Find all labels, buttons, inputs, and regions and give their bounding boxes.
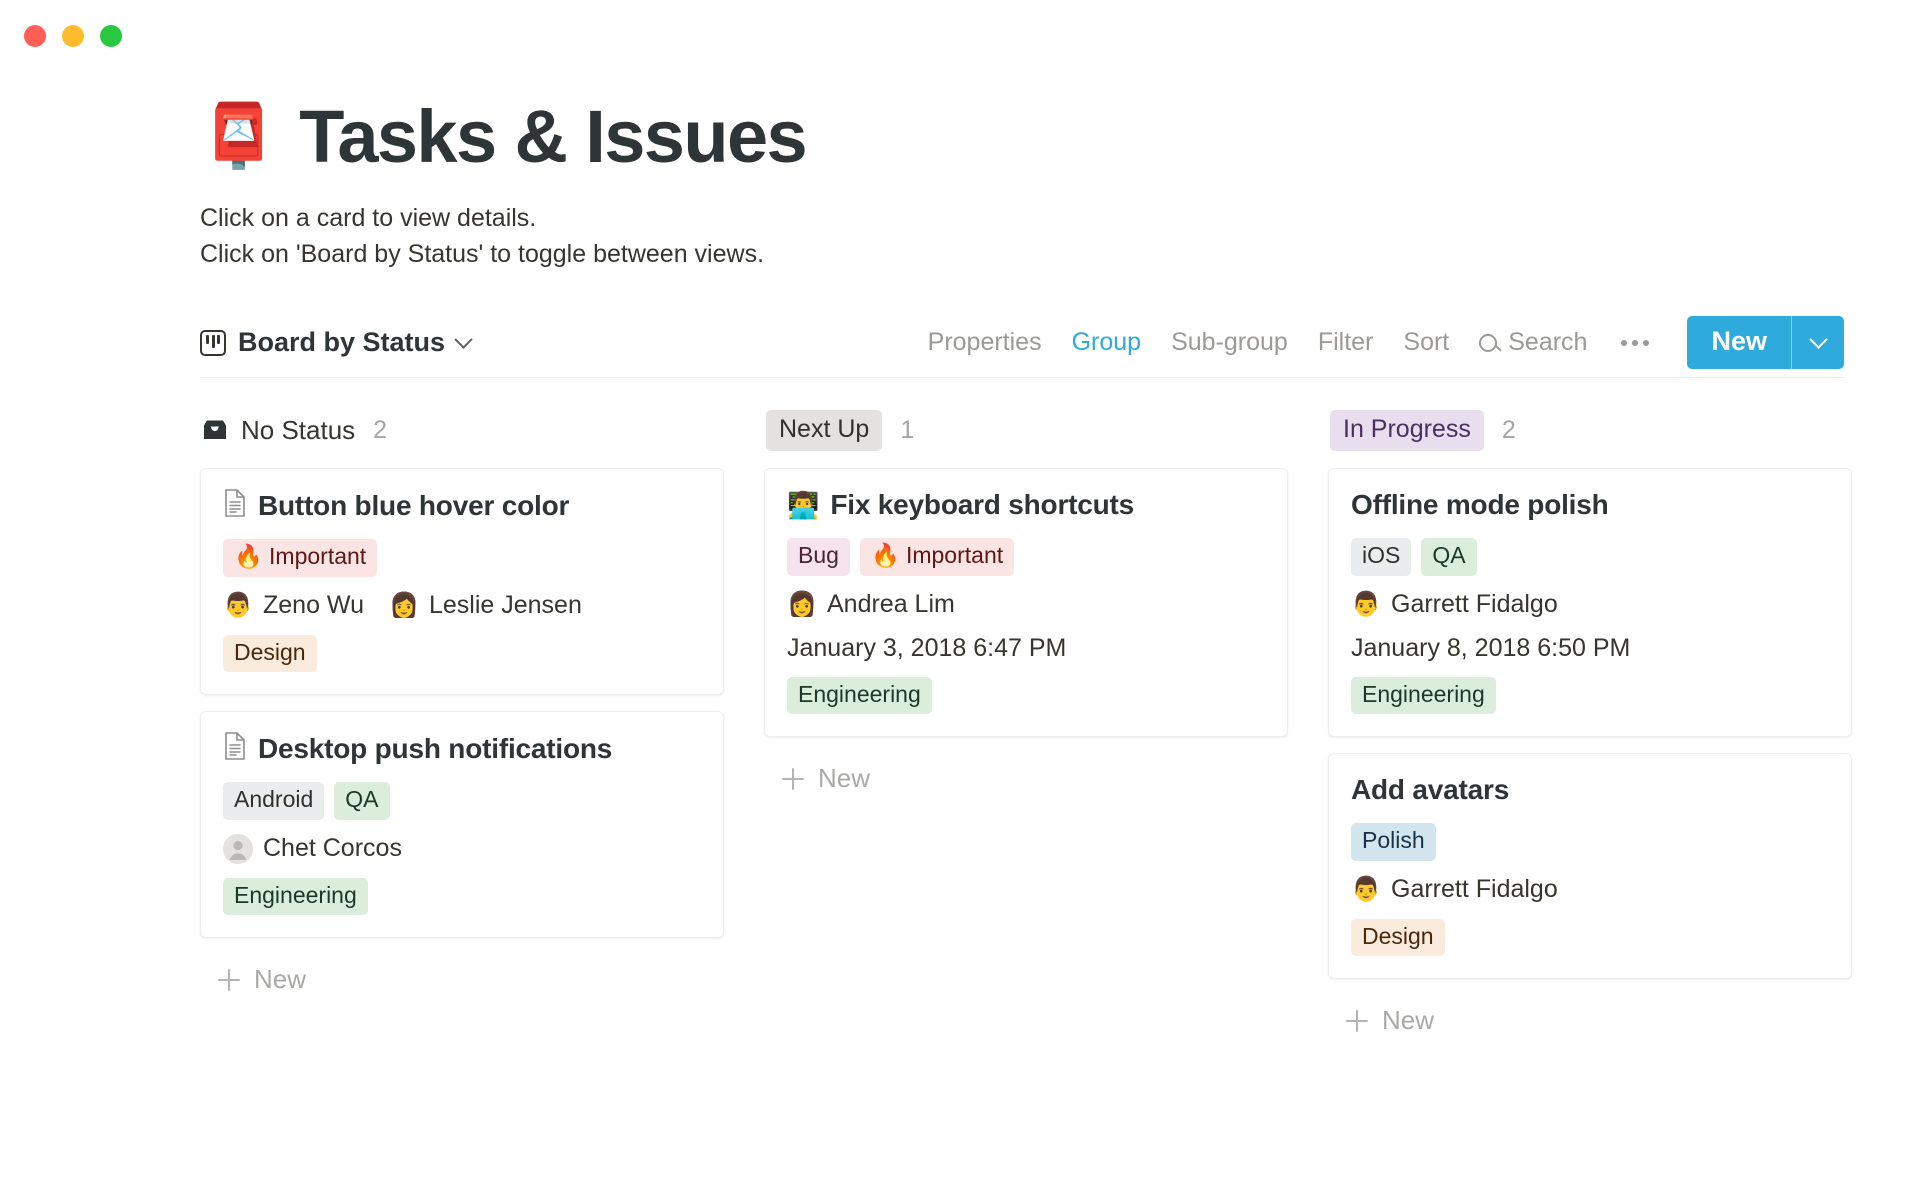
add-card-button[interactable]: New xyxy=(1328,995,1852,1046)
card-title: Add avatars xyxy=(1351,774,1509,806)
card-person[interactable]: Chet Corcos xyxy=(223,834,402,864)
column-header[interactable]: Next Up1 xyxy=(764,408,1288,452)
board-card[interactable]: Offline mode polishiOSQA👨Garrett Fidalgo… xyxy=(1328,468,1852,737)
column-title: Next Up xyxy=(766,410,882,451)
avatar: 👨 xyxy=(223,591,253,621)
toolbar-item-group[interactable]: Group xyxy=(1072,328,1141,357)
column-count: 2 xyxy=(1502,416,1516,445)
toolbar-item-properties[interactable]: Properties xyxy=(928,328,1042,357)
avatar: 👩 xyxy=(787,590,817,620)
card-tag[interactable]: Bug xyxy=(787,538,850,576)
page-content: 📮 Tasks & Issues Click on a card to view… xyxy=(0,94,1920,1046)
board-column: Next Up1👨‍💻Fix keyboard shortcutsBug🔥 Im… xyxy=(764,408,1288,1046)
column-title: In Progress xyxy=(1330,410,1484,451)
column-count: 2 xyxy=(373,416,387,445)
card-title-row: 👨‍💻Fix keyboard shortcuts xyxy=(787,489,1265,521)
tray-icon xyxy=(202,419,228,441)
board-card[interactable]: Add avatarsPolish👨Garrett FidalgoDesign xyxy=(1328,753,1852,979)
card-people-row: 👩Andrea Lim xyxy=(787,590,1265,620)
close-button[interactable] xyxy=(24,25,46,47)
card-tag[interactable]: Design xyxy=(223,635,317,673)
card-people-row: 👨Garrett Fidalgo xyxy=(1351,875,1829,905)
column-title: No Status xyxy=(241,415,355,446)
card-tag[interactable]: Engineering xyxy=(1351,677,1496,715)
document-icon xyxy=(223,489,247,522)
add-card-label: New xyxy=(254,964,306,995)
board-card[interactable]: 👨‍💻Fix keyboard shortcutsBug🔥 Important👩… xyxy=(764,468,1288,737)
card-tag[interactable]: Design xyxy=(1351,919,1445,957)
card-emoji-icon: 👨‍💻 xyxy=(787,492,819,518)
view-name-label: Board by Status xyxy=(238,327,445,358)
card-footer-tag-row: Design xyxy=(223,635,701,673)
card-tag-row: Bug🔥 Important xyxy=(787,538,1265,576)
card-tag-row: Polish xyxy=(1351,823,1829,861)
avatar: 👩 xyxy=(389,591,419,621)
subtitle-line-2: Click on 'Board by Status' to toggle bet… xyxy=(200,237,1920,273)
window-titlebar xyxy=(0,0,1920,72)
card-tag[interactable]: Engineering xyxy=(223,878,368,916)
card-tag-row: AndroidQA xyxy=(223,782,701,820)
toolbar-actions: Properties Group Sub-group Filter Sort S… xyxy=(928,316,1844,369)
card-title-row: Offline mode polish xyxy=(1351,489,1829,521)
maximize-button[interactable] xyxy=(100,25,122,47)
card-title: Fix keyboard shortcuts xyxy=(830,489,1134,521)
plus-icon xyxy=(782,768,804,790)
card-tag[interactable]: Engineering xyxy=(787,677,932,715)
new-button[interactable]: New xyxy=(1687,316,1791,369)
card-person[interactable]: 👨Zeno Wu xyxy=(223,591,364,621)
board-icon xyxy=(200,330,226,356)
new-dropdown-button[interactable] xyxy=(1792,316,1844,369)
card-footer-tag-row: Engineering xyxy=(223,878,701,916)
add-card-button[interactable]: New xyxy=(200,954,724,1005)
add-card-button[interactable]: New xyxy=(764,753,1288,804)
card-footer-tag-row: Engineering xyxy=(787,677,1265,715)
kanban-board: No Status2Button blue hover color🔥 Impor… xyxy=(200,408,1920,1046)
person-name: Garrett Fidalgo xyxy=(1391,875,1558,904)
plus-icon xyxy=(218,969,240,991)
subtitle-line-1: Click on a card to view details. xyxy=(200,201,1920,237)
column-header[interactable]: No Status2 xyxy=(200,408,724,452)
person-name: Andrea Lim xyxy=(827,590,955,619)
person-name: Zeno Wu xyxy=(263,591,364,620)
card-tag-row: iOSQA xyxy=(1351,538,1829,576)
avatar: 👨 xyxy=(1351,590,1381,620)
toolbar-item-subgroup[interactable]: Sub-group xyxy=(1171,328,1288,357)
search-button[interactable]: Search xyxy=(1479,328,1587,357)
card-title-row: Desktop push notifications xyxy=(223,732,701,765)
column-header[interactable]: In Progress2 xyxy=(1328,408,1852,452)
search-icon xyxy=(1479,334,1497,352)
minimize-button[interactable] xyxy=(62,25,84,47)
card-tag[interactable]: Android xyxy=(223,782,324,820)
card-tag[interactable]: QA xyxy=(1421,538,1476,576)
column-count: 1 xyxy=(900,416,914,445)
card-footer-tag-row: Design xyxy=(1351,919,1829,957)
board-card[interactable]: Button blue hover color🔥 Important👨Zeno … xyxy=(200,468,724,695)
card-tag[interactable]: Polish xyxy=(1351,823,1436,861)
toolbar-item-sort[interactable]: Sort xyxy=(1403,328,1449,357)
card-tag[interactable]: 🔥 Important xyxy=(860,538,1014,576)
card-person[interactable]: 👨Garrett Fidalgo xyxy=(1351,875,1558,905)
chevron-down-icon xyxy=(1809,330,1827,348)
chevron-down-icon xyxy=(454,330,472,348)
page-subtitle: Click on a card to view details. Click o… xyxy=(200,201,1920,272)
card-tag-row: 🔥 Important xyxy=(223,539,701,577)
add-card-label: New xyxy=(818,763,870,794)
card-title: Desktop push notifications xyxy=(258,733,612,765)
mailbox-icon: 📮 xyxy=(200,106,277,168)
card-people-row: 👨Zeno Wu👩Leslie Jensen xyxy=(223,591,701,621)
card-tag[interactable]: QA xyxy=(334,782,389,820)
board-column: No Status2Button blue hover color🔥 Impor… xyxy=(200,408,724,1046)
page-header: 📮 Tasks & Issues xyxy=(200,94,1920,179)
card-date: January 8, 2018 6:50 PM xyxy=(1351,634,1829,663)
card-tag[interactable]: 🔥 Important xyxy=(223,539,377,577)
card-title-row: Button blue hover color xyxy=(223,489,701,522)
card-footer-tag-row: Engineering xyxy=(1351,677,1829,715)
plus-icon xyxy=(1346,1010,1368,1032)
more-options-icon[interactable] xyxy=(1617,340,1653,346)
card-person[interactable]: 👩Andrea Lim xyxy=(787,590,955,620)
card-date: January 3, 2018 6:47 PM xyxy=(787,634,1265,663)
person-name: Chet Corcos xyxy=(263,834,402,863)
card-title-row: Add avatars xyxy=(1351,774,1829,806)
view-toolbar: Board by Status Properties Group Sub-gro… xyxy=(200,312,1844,378)
person-name: Garrett Fidalgo xyxy=(1391,590,1558,619)
card-people-row: Chet Corcos xyxy=(223,834,701,864)
document-icon xyxy=(223,732,247,765)
toolbar-item-filter[interactable]: Filter xyxy=(1318,328,1374,357)
add-card-label: New xyxy=(1382,1005,1434,1036)
person-name: Leslie Jensen xyxy=(429,591,582,620)
avatar: 👨 xyxy=(1351,875,1381,905)
view-selector[interactable]: Board by Status xyxy=(200,327,470,358)
card-tag[interactable]: iOS xyxy=(1351,538,1411,576)
card-title: Offline mode polish xyxy=(1351,489,1609,521)
search-label: Search xyxy=(1508,328,1587,357)
board-column: In Progress2Offline mode polishiOSQA👨Gar… xyxy=(1328,408,1852,1046)
card-people-row: 👨Garrett Fidalgo xyxy=(1351,590,1829,620)
new-button-group: New xyxy=(1687,316,1844,369)
board-card[interactable]: Desktop push notificationsAndroidQAChet … xyxy=(200,711,724,938)
card-title: Button blue hover color xyxy=(258,490,569,522)
page-title: Tasks & Issues xyxy=(299,94,806,179)
avatar xyxy=(223,834,253,864)
card-person[interactable]: 👩Leslie Jensen xyxy=(389,591,582,621)
card-person[interactable]: 👨Garrett Fidalgo xyxy=(1351,590,1558,620)
window-controls xyxy=(24,25,122,47)
